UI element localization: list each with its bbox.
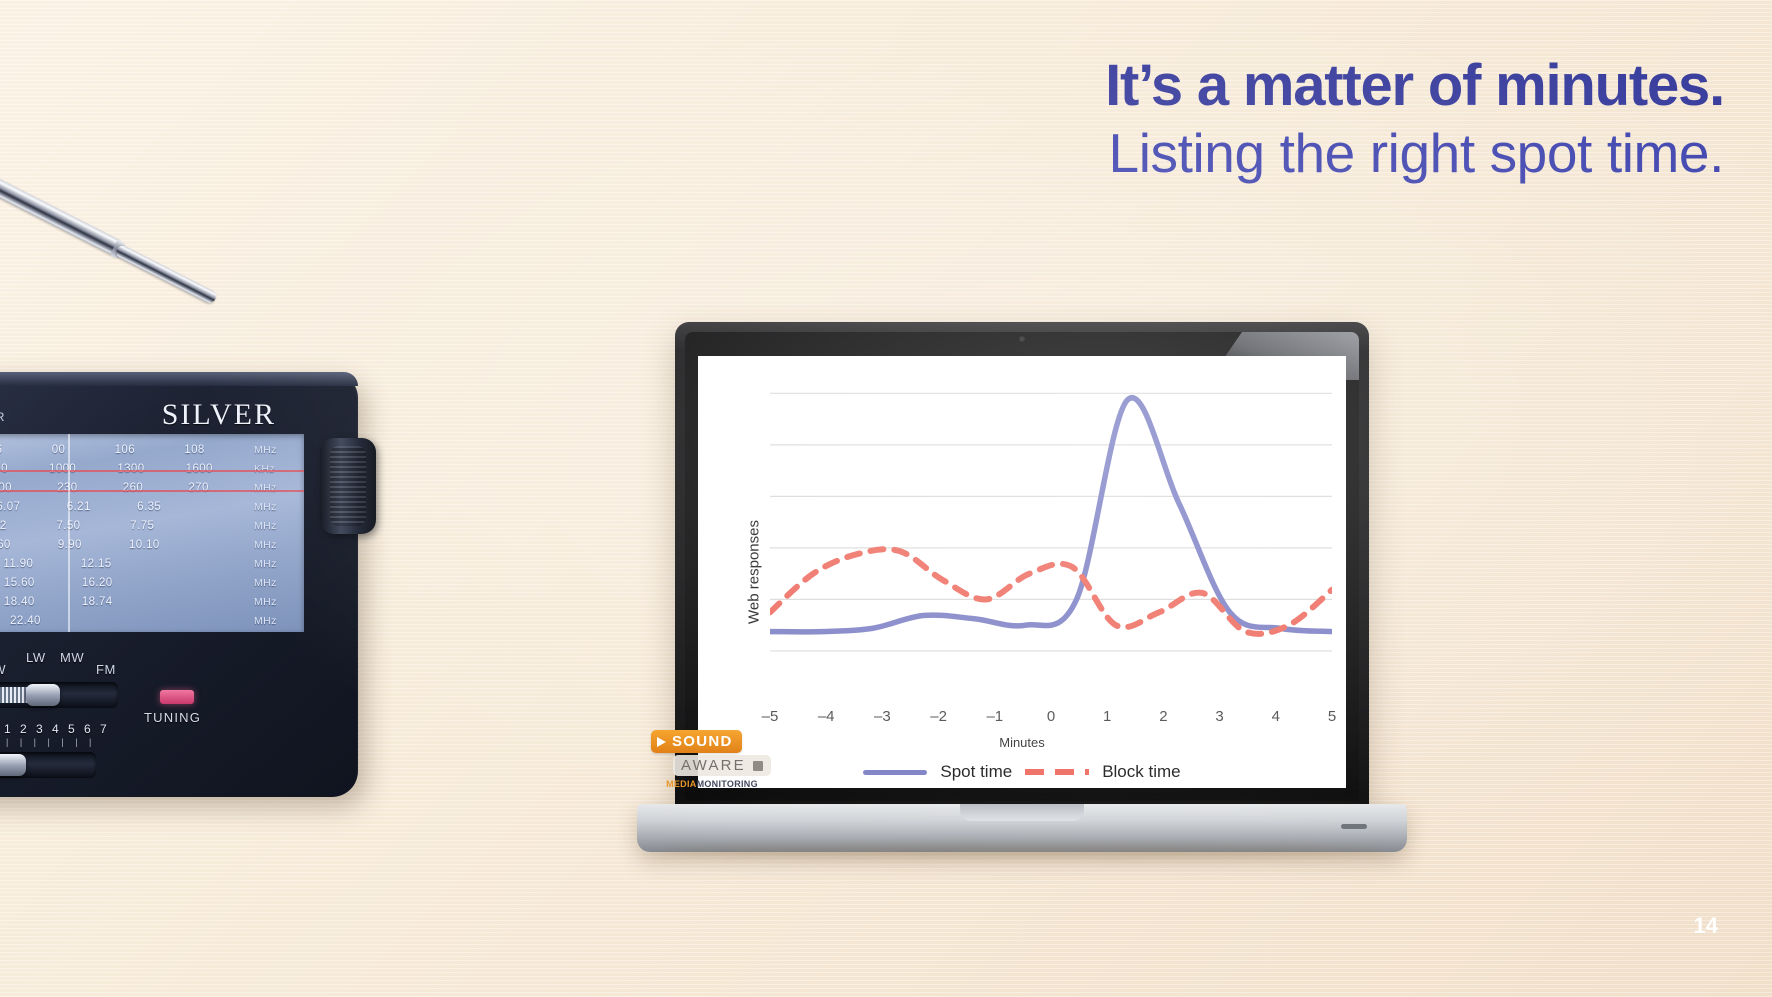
chart-y-axis-title: Web responses bbox=[745, 520, 762, 624]
radio-dial-frequency: 6.21 bbox=[67, 501, 91, 513]
webcam-icon bbox=[1019, 336, 1025, 342]
radio-number-scale: 1 2 3 4 5 6 7 bbox=[4, 722, 110, 736]
slide-canvas: It’s a matter of minutes. Listing the ri… bbox=[0, 0, 1772, 997]
radio-dial-frequency: 15.60 bbox=[4, 577, 35, 589]
chart-series-svg bbox=[770, 374, 1332, 696]
chart-x-tick-label: –1 bbox=[986, 708, 1003, 725]
legend-label-spot-time: Spot time bbox=[940, 762, 1012, 782]
radio-control-panel: ND SW LW MW FM TUNING EAD 1 2 3 4 5 6 7 … bbox=[0, 640, 342, 789]
chart-plot-area bbox=[770, 374, 1332, 696]
radio-dial-frequency: 7.2 bbox=[0, 520, 7, 532]
antenna-segment-lower bbox=[0, 140, 129, 260]
legend-swatch-block-time bbox=[1025, 769, 1089, 775]
radio-dial-row: 600700100013001600KHz bbox=[0, 459, 294, 478]
radio-dial-unit: MHz bbox=[254, 444, 294, 456]
chart-x-tick-label: –3 bbox=[874, 708, 891, 725]
radio-dial-frequency: 1300 bbox=[117, 463, 144, 475]
logo-sound-badge: SOUND bbox=[651, 730, 742, 753]
page-title: It’s a matter of minutes. Listing the ri… bbox=[624, 56, 1724, 184]
chart-x-tick-label: –5 bbox=[762, 708, 779, 725]
radio-dial-unit: KHz bbox=[254, 463, 294, 475]
logo-tagline: MEDIAMONITORING bbox=[651, 779, 773, 789]
radio-dial-unit: MHz bbox=[254, 539, 294, 551]
radio-dial-frequency: 16.20 bbox=[82, 577, 113, 589]
logo-aware-badge: AWARE bbox=[673, 755, 771, 776]
radio-dial-row: 5.926.076.216.35MHz bbox=[0, 497, 294, 516]
page-number: 14 bbox=[1694, 913, 1718, 939]
radio-number-scale-ticks: | | | | | | | bbox=[6, 737, 96, 747]
radio-band-label-mw: MW bbox=[60, 650, 84, 665]
laptop-drop-shadow bbox=[657, 844, 1387, 858]
radio-dial-frequency: 700 bbox=[0, 463, 8, 475]
radio-dial-frequency: 9.60 bbox=[0, 539, 11, 551]
headline-line-1: It’s a matter of minutes. bbox=[624, 56, 1724, 117]
radio-dial-frequency: 7.75 bbox=[130, 520, 154, 532]
legend-label-block-time: Block time bbox=[1102, 762, 1180, 782]
radio-dial-row: 21.8522.40MHz bbox=[0, 611, 294, 630]
chart-x-tick-label: 1 bbox=[1103, 708, 1111, 725]
radio-model-label: RECEIVER bbox=[0, 410, 6, 424]
logo-tagline-media: MEDIA bbox=[666, 779, 697, 789]
radio-dial-row: 929600106108MHz bbox=[0, 440, 294, 459]
laptop-base-notch bbox=[960, 804, 1084, 821]
radio-dial-frequency: 00 bbox=[52, 444, 66, 456]
radio-dial-frequency: 108 bbox=[184, 444, 204, 456]
radio-dial-row: 11.6011.9012.15MHz bbox=[0, 554, 294, 573]
chart-x-axis-ticks: –5–4–3–2–1012345 bbox=[770, 708, 1332, 730]
radio-band-label-fm: FM bbox=[96, 662, 116, 677]
radio-dial-row: 057.27.507.75MHz bbox=[0, 516, 294, 535]
radio-volume-knob[interactable] bbox=[320, 438, 376, 534]
radio-dial-frequency: 106 bbox=[115, 444, 135, 456]
radio-dial-row: 180200230260270MHz bbox=[0, 478, 294, 497]
chart-line-series bbox=[770, 549, 1332, 634]
radio-band-label-sw: SW bbox=[0, 662, 6, 677]
logo-word-sound: SOUND bbox=[672, 733, 733, 750]
dial-red-line-am bbox=[0, 490, 304, 492]
legend-swatch-spot-time bbox=[863, 770, 927, 775]
laptop-lid: Web responses –5–4–3–2–1012345 Minutes S… bbox=[675, 322, 1369, 809]
radio-receiver: V RECEIVER SILVER 929600106108MHz6007001… bbox=[0, 372, 358, 797]
radio-dial-unit: MHz bbox=[254, 596, 294, 608]
radio-dial-frequency: 18.40 bbox=[4, 596, 35, 608]
radio-dial-frequency: 6.07 bbox=[0, 501, 20, 513]
dial-red-line-fm bbox=[0, 470, 304, 472]
chart-x-tick-label: 2 bbox=[1159, 708, 1167, 725]
radio-dial-unit: MHz bbox=[254, 520, 294, 532]
radio-dial-frequency: 10.10 bbox=[129, 539, 160, 551]
radio-top-edge bbox=[0, 372, 358, 386]
radio-dial-frequency: 11.90 bbox=[3, 558, 33, 570]
radio-dial-unit: MHz bbox=[254, 558, 294, 570]
radio-dial-row: 479.609.9010.10MHz bbox=[0, 535, 294, 554]
chart-x-tick-label: 5 bbox=[1328, 708, 1336, 725]
radio-dial-frequency: 18.74 bbox=[82, 596, 113, 608]
stop-icon bbox=[753, 761, 763, 771]
chart-x-tick-label: –2 bbox=[930, 708, 947, 725]
radio-band-slider-thumb[interactable] bbox=[26, 684, 60, 706]
chart-x-tick-label: 0 bbox=[1047, 708, 1055, 725]
radio-dial-unit: MHz bbox=[254, 615, 294, 627]
chart-line-series bbox=[770, 398, 1332, 632]
radio-dial-frequency: 6.35 bbox=[137, 501, 161, 513]
dial-needle bbox=[68, 434, 70, 632]
radio-dial-frequency: 1000 bbox=[49, 463, 76, 475]
chart-x-tick-label: 4 bbox=[1272, 708, 1280, 725]
logo-tagline-monitoring: MONITORING bbox=[697, 779, 758, 789]
radio-brand-label: SILVER bbox=[162, 398, 276, 432]
play-icon bbox=[657, 737, 666, 747]
radio-dial-frequency: 22.40 bbox=[10, 615, 41, 627]
logo-word-aware: AWARE bbox=[681, 757, 746, 774]
radio-dial-frequency: 1600 bbox=[186, 463, 213, 475]
chart-legend: Spot time Block time bbox=[698, 762, 1346, 782]
radio-dial-frequency: 12.15 bbox=[81, 558, 112, 570]
antenna-segment-upper bbox=[114, 244, 218, 306]
radio-dial-frequency-rows: 929600106108MHz600700100013001600KHz1802… bbox=[0, 434, 304, 632]
radio-antenna bbox=[0, 108, 279, 396]
laptop-status-indicator bbox=[1341, 824, 1367, 829]
radio-band-label-lw: LW bbox=[26, 650, 46, 665]
radio-tuning-indicator-led bbox=[160, 690, 194, 704]
chart-container: Web responses –5–4–3–2–1012345 Minutes S… bbox=[698, 356, 1346, 788]
radio-dial-unit: MHz bbox=[254, 501, 294, 513]
laptop-screen: Web responses –5–4–3–2–1012345 Minutes S… bbox=[698, 356, 1346, 788]
radio-dial-row: 17.9018.4018.74MHz bbox=[0, 592, 294, 611]
soundaware-logo: SOUND AWARE MEDIAMONITORING bbox=[651, 730, 773, 789]
radio-dial-frequency: 96 bbox=[0, 444, 2, 456]
chart-x-axis-title: Minutes bbox=[698, 735, 1346, 750]
radio-dial-row: 15.2015.6016.20MHz bbox=[0, 573, 294, 592]
radio-volume-slider-thumb[interactable] bbox=[0, 754, 26, 776]
radio-dial-unit: MHz bbox=[254, 577, 294, 589]
radio-tuning-label: TUNING bbox=[144, 710, 201, 725]
headline-line-2: Listing the right spot time. bbox=[624, 123, 1724, 185]
chart-x-tick-label: 3 bbox=[1215, 708, 1223, 725]
radio-dial-display: 929600106108MHz600700100013001600KHz1802… bbox=[0, 434, 304, 632]
chart-x-tick-label: –4 bbox=[818, 708, 835, 725]
